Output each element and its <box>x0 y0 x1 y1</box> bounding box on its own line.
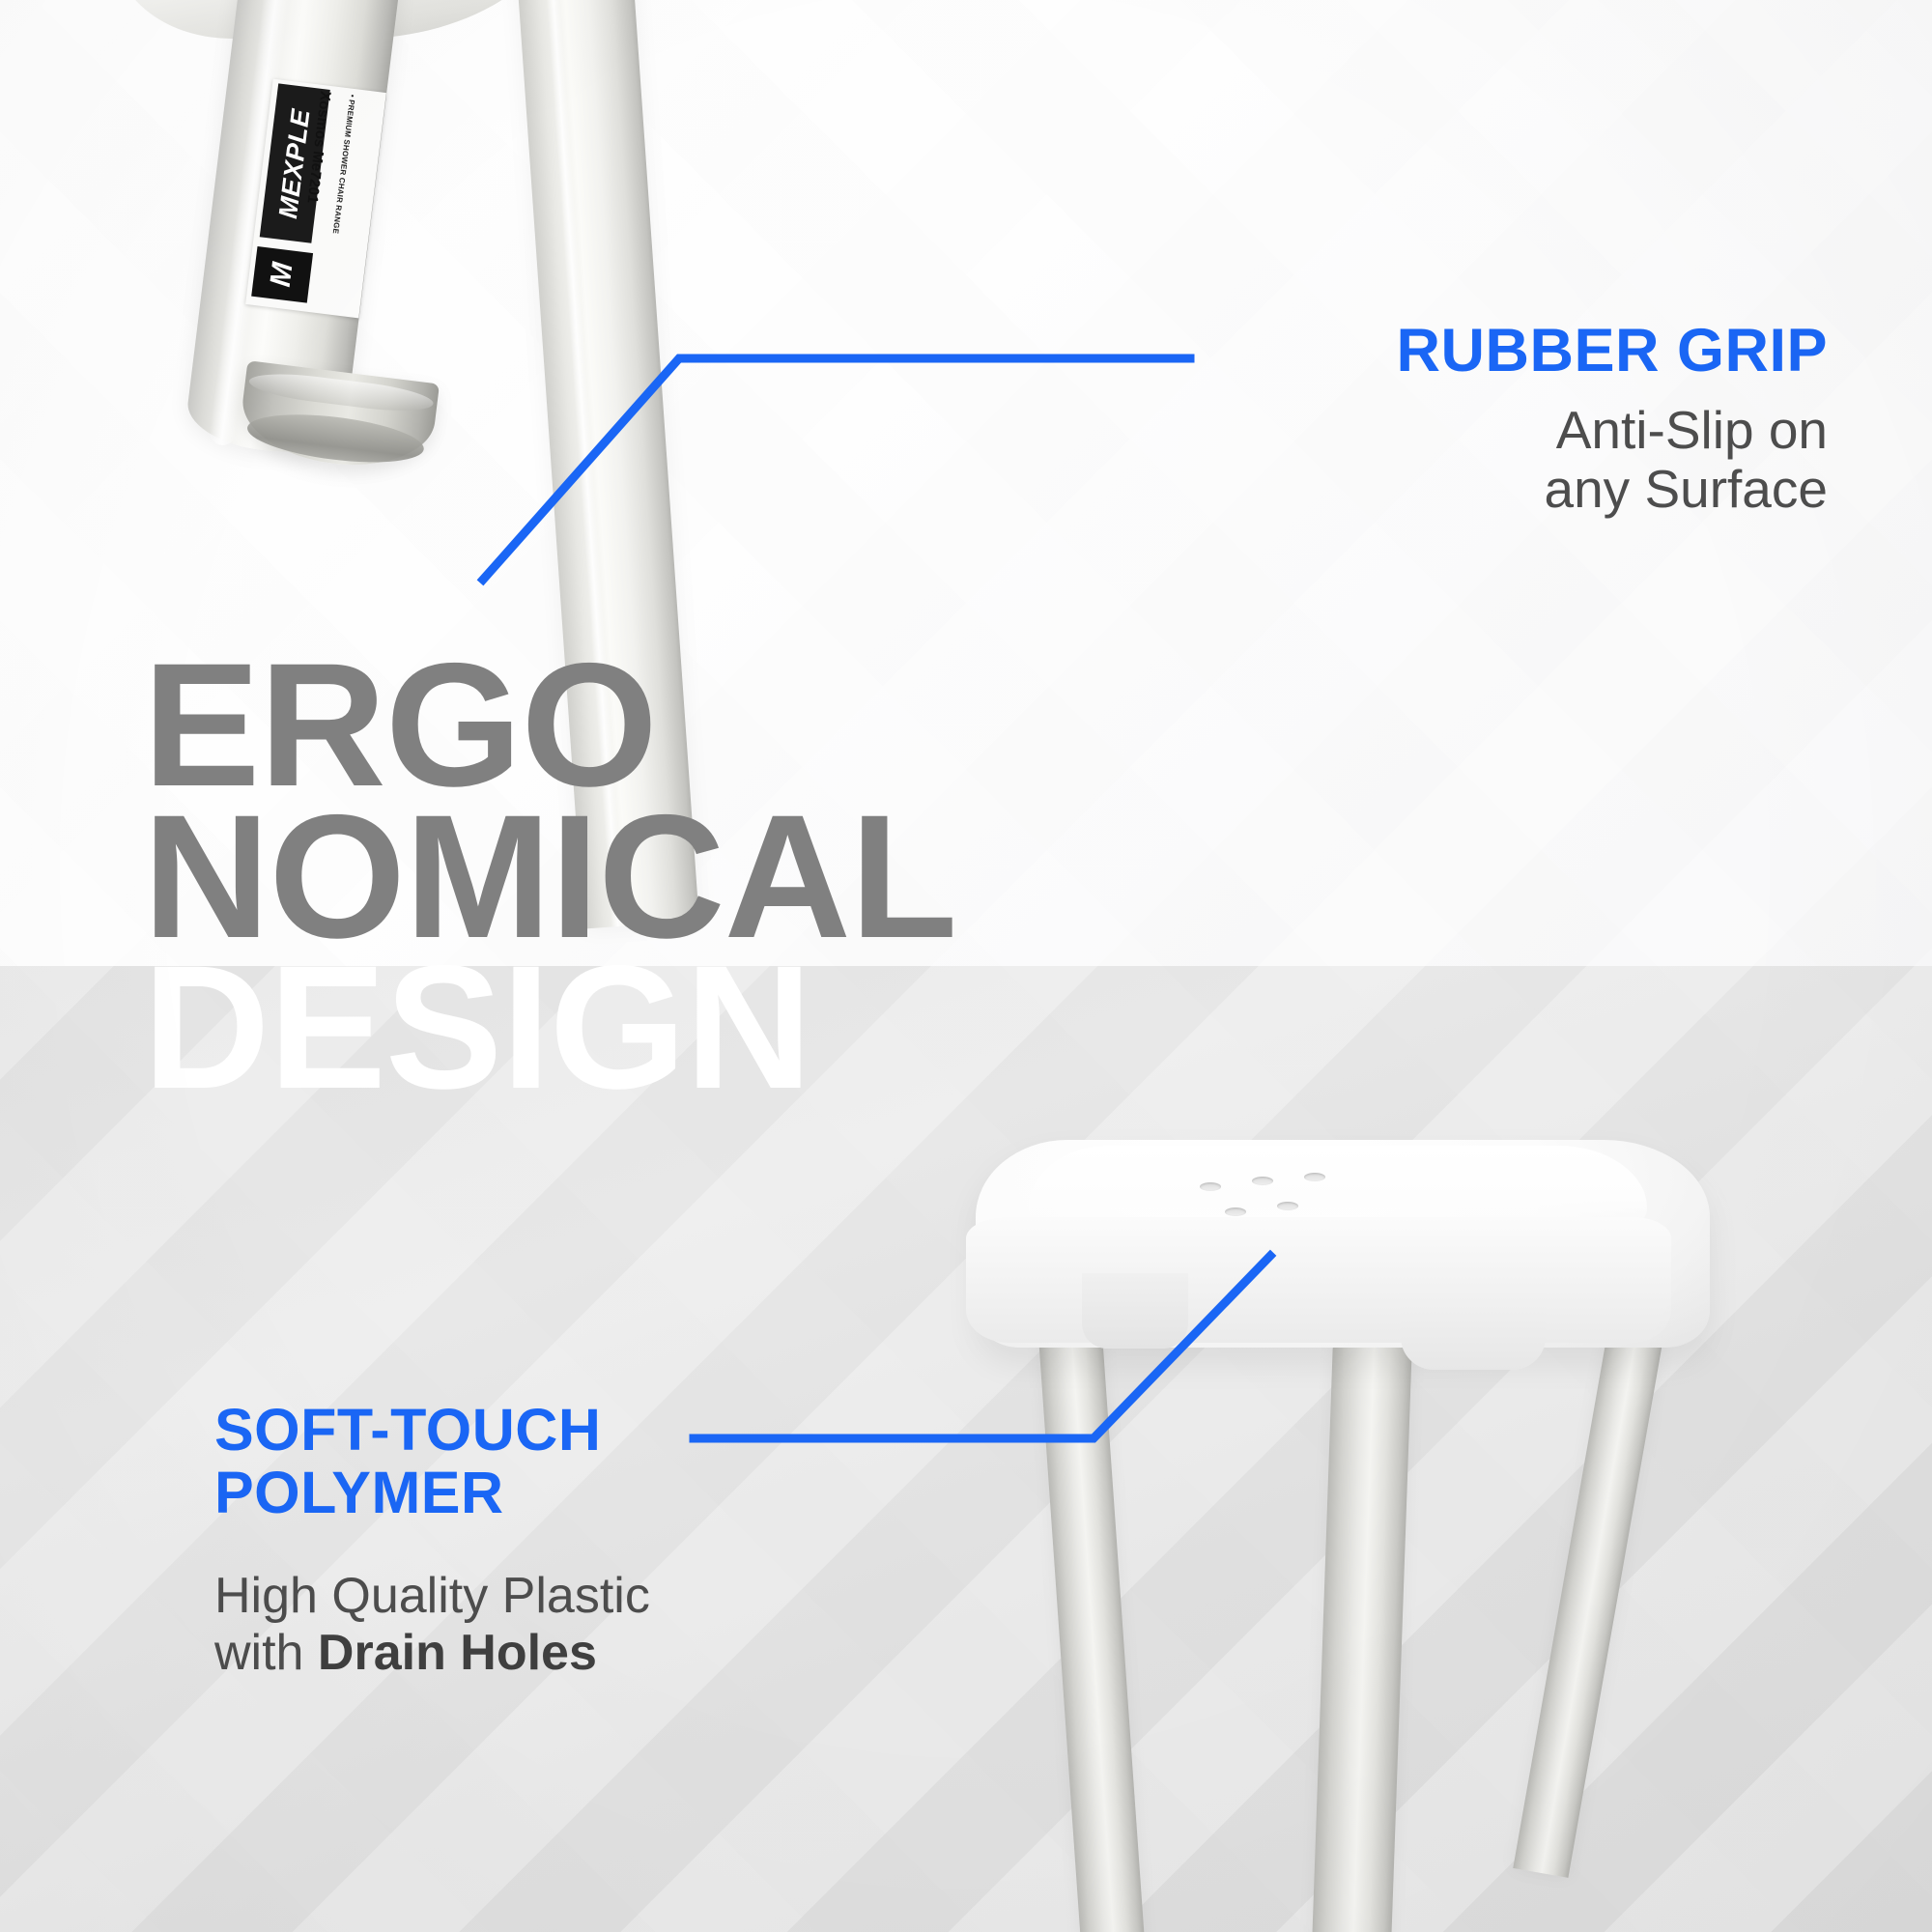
stool-leg-right <box>1513 1297 1668 1878</box>
drain-hole <box>1252 1177 1273 1185</box>
drain-hole <box>1304 1173 1325 1181</box>
callout-soft-touch-title: SOFT-TOUCH POLYMER <box>214 1399 949 1523</box>
seat-front-face <box>966 1217 1671 1343</box>
label-range-text: • PREMIUM SHOWER CHAIR RANGE <box>328 94 357 258</box>
callout-soft-touch: SOFT-TOUCH POLYMER High Quality Plastic … <box>214 1399 949 1681</box>
callout-soft-touch-subtitle-line1: High Quality Plastic <box>214 1568 650 1624</box>
rubber-foot-cap <box>237 360 440 475</box>
seat-leg-socket-center <box>1401 1281 1546 1370</box>
page-headline: ERGO NOMICAL DESIGN <box>143 649 956 1103</box>
callout-rubber-grip-subtitle: Anti-Slip on any Surface <box>1229 401 1828 520</box>
callout-rubber-grip: RUBBER GRIP Anti-Slip on any Surface <box>1229 319 1828 520</box>
product-photo-chair-leg: MEXPLE Xosmos Me7201 • PREMIUM SHOWER CH… <box>0 0 869 657</box>
drain-hole <box>1277 1202 1298 1210</box>
callout-rubber-grip-subtitle-line2: any Surface <box>1544 459 1828 519</box>
callout-soft-touch-title-line2: POLYMER <box>214 1460 504 1525</box>
drain-hole <box>1200 1182 1221 1191</box>
stool-leg-left <box>1038 1333 1145 1932</box>
seat-leg-socket-left <box>1082 1273 1188 1349</box>
callout-soft-touch-subtitle-prefix: with <box>214 1625 318 1681</box>
label-logo-mark: M <box>251 246 313 303</box>
drain-hole <box>1225 1207 1246 1216</box>
product-photo-shower-stool <box>947 1111 1932 1932</box>
callout-soft-touch-subtitle-bold: Drain Holes <box>318 1625 597 1681</box>
stool-leg-center <box>1312 1338 1412 1932</box>
callout-soft-touch-subtitle: High Quality Plastic with Drain Holes <box>214 1568 949 1680</box>
infographic-canvas: MEXPLE Xosmos Me7201 • PREMIUM SHOWER CH… <box>0 0 1932 1932</box>
callout-soft-touch-title-line1: SOFT-TOUCH <box>214 1397 601 1463</box>
callout-rubber-grip-subtitle-line1: Anti-Slip on <box>1556 400 1828 460</box>
callout-rubber-grip-title: RUBBER GRIP <box>1229 319 1828 384</box>
